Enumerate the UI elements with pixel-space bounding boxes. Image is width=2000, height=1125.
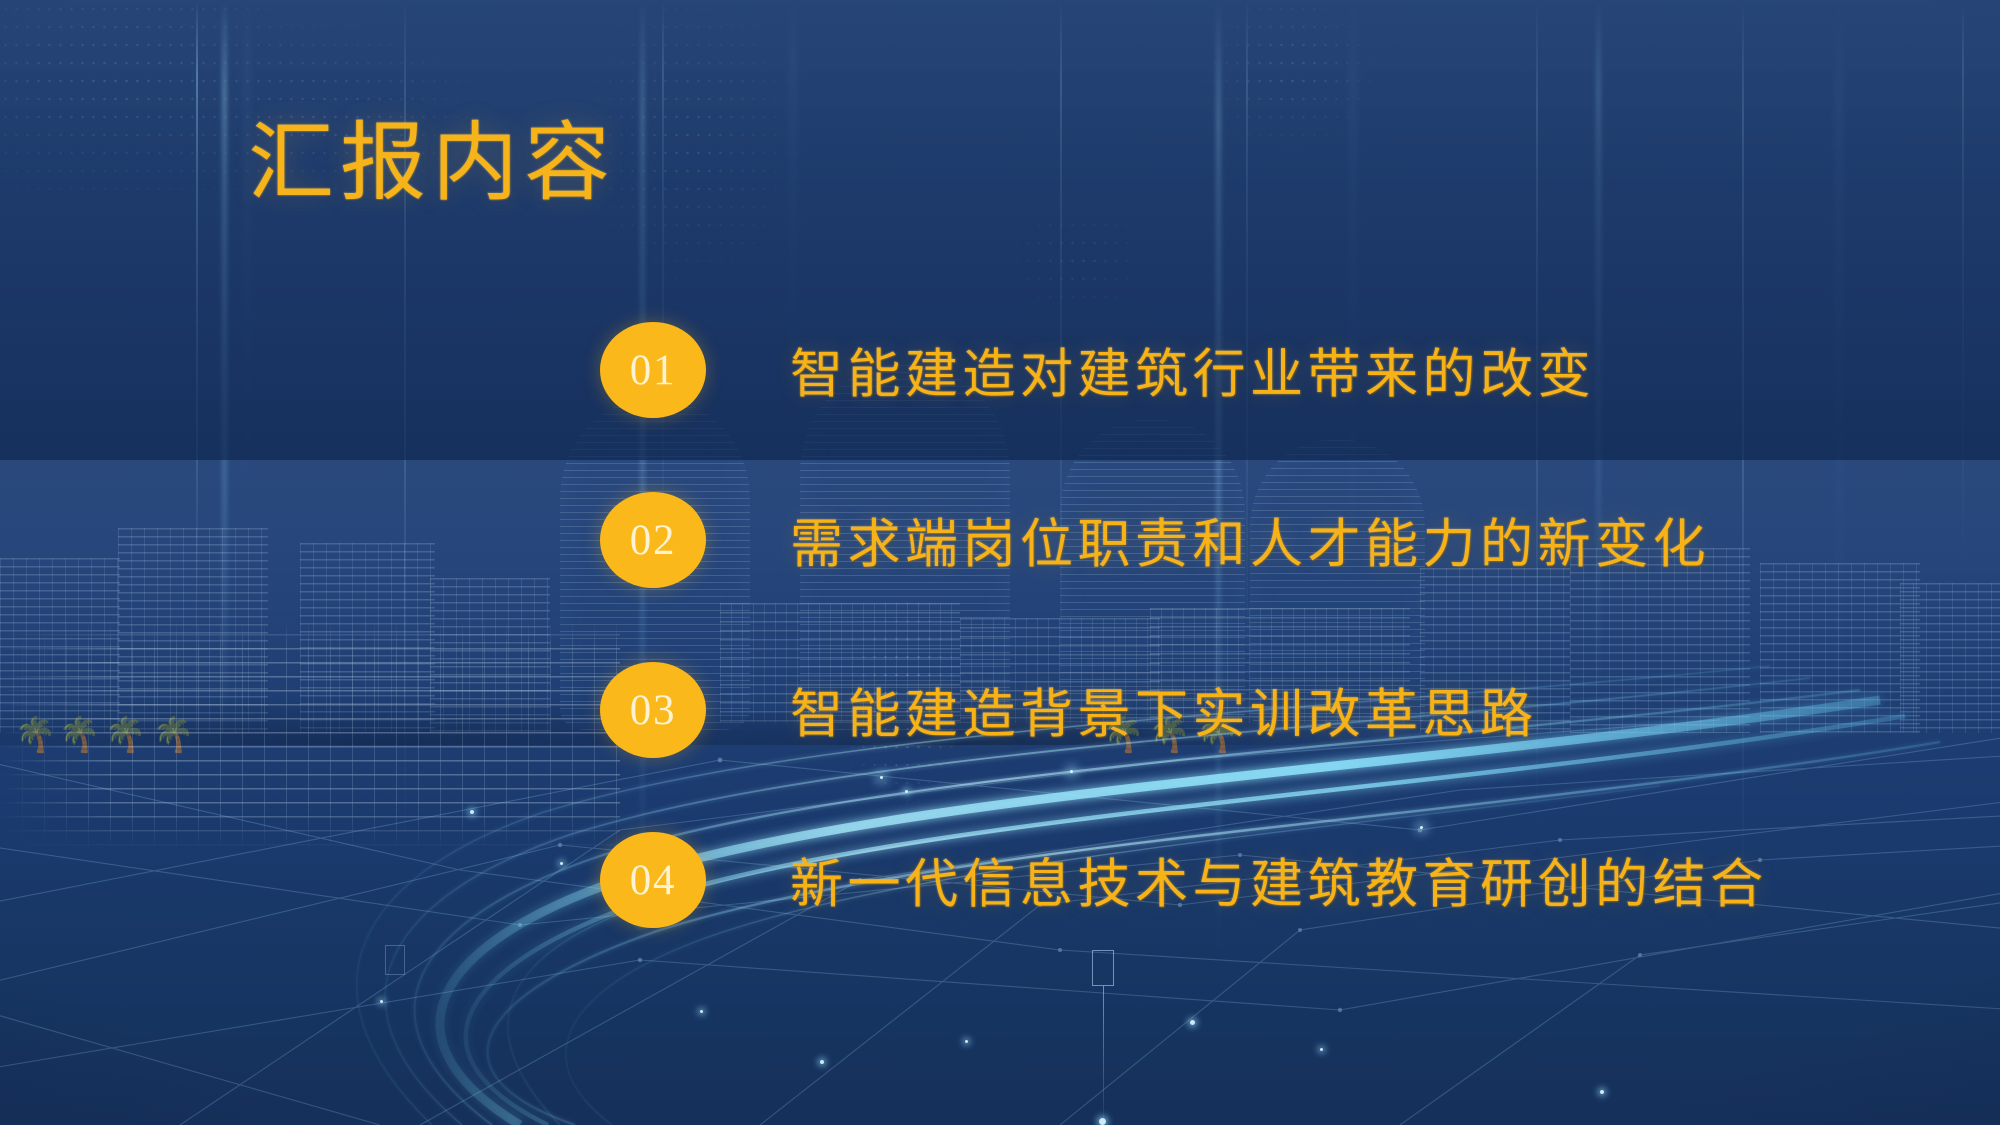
- agenda-item-03[interactable]: 03 智能建造背景下实训改革思路: [600, 625, 1940, 795]
- agenda-number-badge: 03: [600, 662, 706, 758]
- agenda-number: 02: [630, 519, 676, 562]
- agenda-number-badge: 02: [600, 492, 706, 588]
- page-title: 汇报内容: [248, 92, 616, 217]
- agenda-item-label: 智能建造背景下实训改革思路: [790, 672, 1538, 748]
- agenda-number: 01: [630, 349, 676, 392]
- agenda-item-04[interactable]: 04 新一代信息技术与建筑教育研创的结合: [600, 795, 1940, 965]
- agenda-item-label: 新一代信息技术与建筑教育研创的结合: [790, 842, 1768, 918]
- agenda-item-label: 需求端岗位职责和人才能力的新变化: [790, 502, 1710, 578]
- slide-content: 汇报内容 01 智能建造对建筑行业带来的改变 02 需求端岗位职责和人才能力的新…: [0, 0, 2000, 1125]
- agenda-list: 01 智能建造对建筑行业带来的改变 02 需求端岗位职责和人才能力的新变化 03…: [600, 285, 1940, 965]
- agenda-item-label: 智能建造对建筑行业带来的改变: [790, 332, 1595, 408]
- agenda-item-01[interactable]: 01 智能建造对建筑行业带来的改变: [600, 285, 1940, 455]
- agenda-number-badge: 04: [600, 832, 706, 928]
- agenda-number-badge: 01: [600, 322, 706, 418]
- agenda-item-02[interactable]: 02 需求端岗位职责和人才能力的新变化: [600, 455, 1940, 625]
- presentation-slide: 🌴 🌴 🌴 🌴 🌴 🌴 🌴: [0, 0, 2000, 1125]
- agenda-number: 03: [630, 689, 676, 732]
- agenda-number: 04: [630, 859, 676, 902]
